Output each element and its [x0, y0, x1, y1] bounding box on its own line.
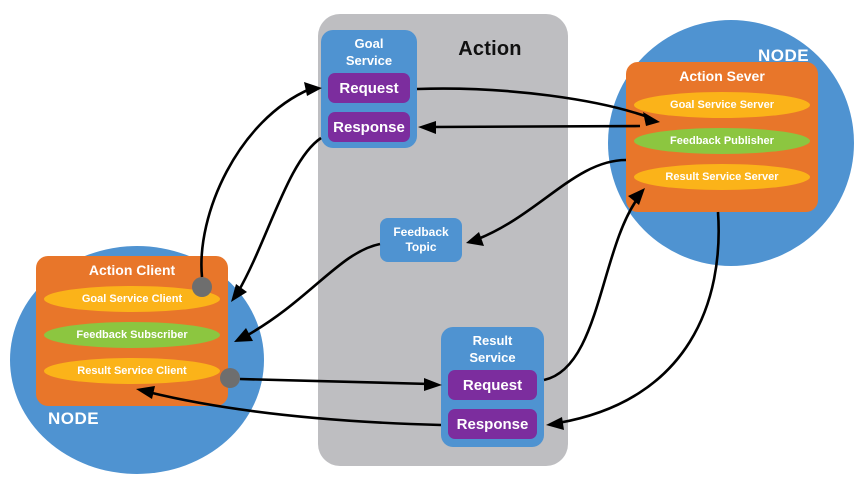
action-client-title: Action Client — [36, 262, 228, 278]
connector-dot-result-client — [220, 368, 240, 388]
arrow-goal-client-to-request — [201, 82, 322, 277]
diagram-canvas: Action NODE Action Client Goal Service C… — [0, 0, 854, 480]
result-service-response: Response — [448, 409, 537, 439]
feedback-topic-line1: Feedback — [393, 225, 448, 240]
goal-service-title-line2: Service — [346, 53, 392, 68]
entity-result-service-server: Result Service Server — [634, 164, 810, 190]
result-service-box: Result Service Request Response — [441, 327, 544, 447]
result-service-request: Request — [448, 370, 537, 400]
entity-goal-service-server: Goal Service Server — [634, 92, 810, 118]
action-panel-label: Action — [430, 38, 550, 61]
node-label-server: NODE — [758, 46, 809, 66]
entity-feedback-publisher: Feedback Publisher — [634, 128, 810, 154]
feedback-topic-box: Feedback Topic — [380, 218, 462, 262]
action-server-box: Action Sever Goal Service Server Feedbac… — [626, 62, 818, 212]
entity-result-service-client: Result Service Client — [44, 358, 220, 384]
connector-dot-goal-client — [192, 277, 212, 297]
result-service-title-line2: Service — [469, 350, 515, 365]
arrow-goal-response-to-client — [231, 138, 321, 302]
node-label-client: NODE — [48, 409, 99, 429]
goal-service-box: Goal Service Request Response — [321, 30, 417, 148]
result-service-title: Result Service — [441, 332, 544, 366]
entity-feedback-subscriber: Feedback Subscriber — [44, 322, 220, 348]
result-service-title-line1: Result — [473, 333, 513, 348]
goal-service-request: Request — [328, 73, 410, 103]
feedback-topic-line2: Topic — [405, 240, 436, 255]
goal-service-title-line1: Goal — [355, 36, 384, 51]
goal-service-title: Goal Service — [321, 35, 417, 69]
goal-service-response: Response — [328, 112, 410, 142]
action-server-title: Action Sever — [626, 68, 818, 84]
